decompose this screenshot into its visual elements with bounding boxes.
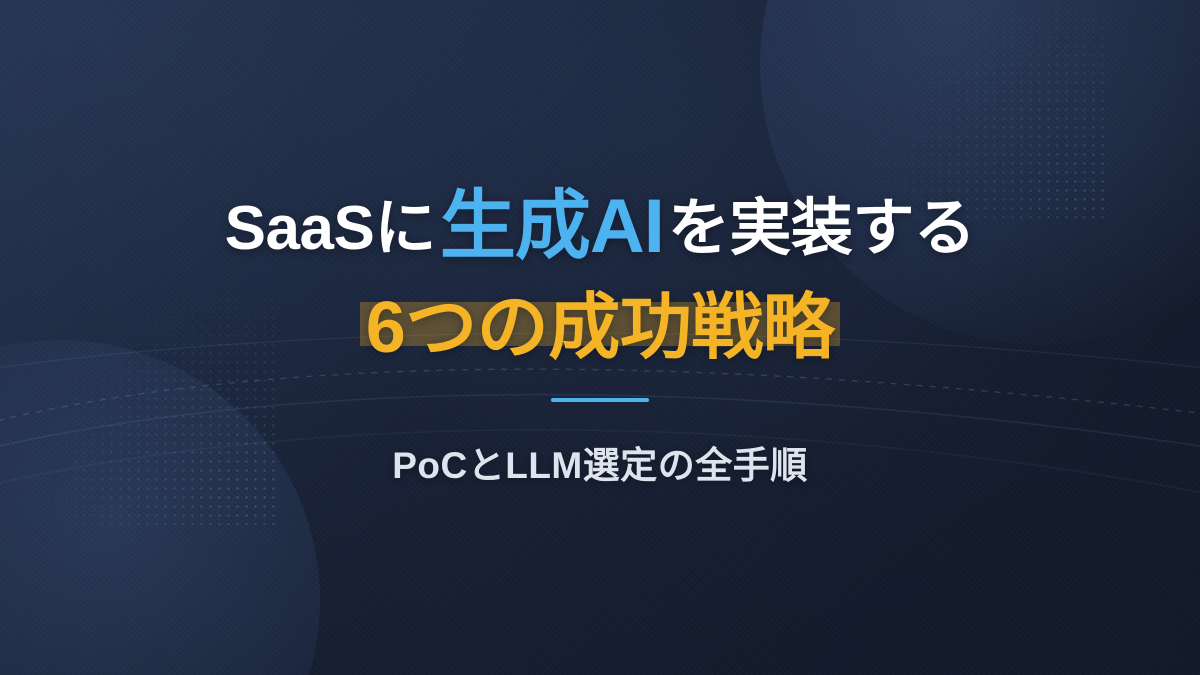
headline-line-1: SaaSに生成AIを実装する (225, 186, 976, 262)
headline-prefix: SaaSに (225, 198, 436, 260)
slide-content: SaaSに生成AIを実装する 6つの成功戦略 PoCとLLM選定の全手順 (0, 0, 1200, 675)
headline-line-2: 6つの成功戦略 (366, 292, 835, 364)
title-slide: SaaSに生成AIを実装する 6つの成功戦略 PoCとLLM選定の全手順 (0, 0, 1200, 675)
accent-divider (551, 398, 649, 402)
headline-suffix: を実装する (668, 198, 976, 260)
headline-accent-term: 生成AI (436, 189, 668, 265)
subtitle: PoCとLLM選定の全手順 (392, 435, 808, 489)
headline-line-2-wrapper: 6つの成功戦略 (360, 292, 841, 364)
